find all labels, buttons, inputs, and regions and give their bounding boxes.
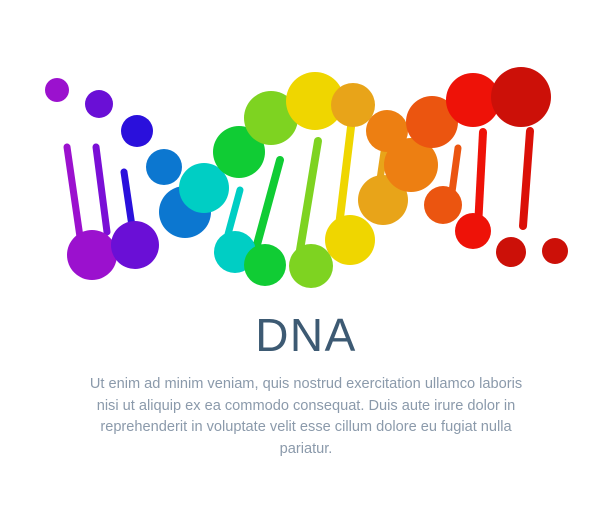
rung-cyan-1 (227, 190, 240, 238)
rung-red-1 (478, 132, 483, 227)
rung-dark-red-1 (523, 131, 530, 226)
node-violet-small-1 (85, 90, 113, 118)
node-dark-red-3 (542, 238, 568, 264)
node-dark-red-2 (496, 237, 526, 267)
node-indigo-1 (121, 115, 153, 147)
node-blue-small-1 (146, 149, 182, 185)
dna-helix-illustration (0, 0, 612, 310)
poster-body-text: Ut enim ad minim veniam, quis nostrud ex… (86, 374, 526, 460)
node-amber-1 (331, 83, 375, 127)
node-green-small-2 (244, 244, 286, 286)
rung-lime-1 (300, 141, 318, 250)
node-lime-2 (289, 244, 333, 288)
rung-deep-orange-1 (452, 148, 458, 192)
rung-green-1 (255, 160, 280, 252)
node-purple-large-1 (67, 230, 117, 280)
node-yellow-2 (325, 215, 375, 265)
node-violet-large-1 (111, 221, 159, 269)
page-title: DNA (0, 312, 612, 358)
rung-yellow-1 (339, 127, 351, 226)
rung-purple-1 (67, 147, 80, 237)
poster-text-block: DNA Ut enim ad minim veniam, quis nostru… (0, 312, 612, 460)
node-purple-small-1 (45, 78, 69, 102)
node-dark-red-1 (491, 67, 551, 127)
dna-poster: DNA Ut enim ad minim veniam, quis nostru… (0, 0, 612, 518)
node-red-2 (455, 213, 491, 249)
node-deep-orange-2 (424, 186, 462, 224)
rung-violet-1 (96, 147, 107, 232)
